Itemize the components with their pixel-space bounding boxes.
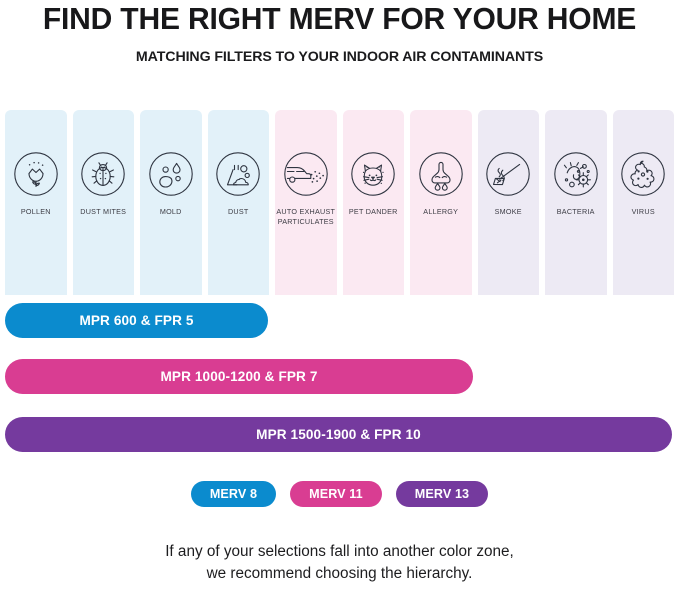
merv-bar-mpr-600[interactable]: MPR 600 & FPR 5 [5, 303, 268, 338]
column-label: POLLEN [5, 207, 67, 217]
page-subtitle: MATCHING FILTERS TO YOUR INDOOR AIR CONT… [0, 49, 679, 65]
merv-bar-mpr-1500-1900[interactable]: MPR 1500-1900 & FPR 10 [5, 417, 672, 452]
contaminant-column-pollen[interactable]: POLLEN [5, 110, 67, 295]
merv-badges: MERV 8 MERV 11 MERV 13 [0, 481, 679, 507]
contaminant-columns: POLLEN [5, 110, 674, 295]
contaminant-column-mold[interactable]: MOLD [140, 110, 202, 295]
contaminant-column-bacteria[interactable]: BACTERIA [545, 110, 607, 295]
dust-cloud-icon [214, 150, 262, 198]
infographic-page: FIND THE RIGHT MERV FOR YOUR HOME MATCHI… [0, 0, 679, 589]
auto-exhaust-car-icon [282, 150, 330, 198]
merv-badge-11[interactable]: MERV 11 [290, 481, 382, 507]
contaminant-column-smoke[interactable]: SMOKE [478, 110, 540, 295]
allergy-nose-icon [417, 150, 465, 198]
column-label: BACTERIA [545, 207, 607, 217]
contaminant-column-dust-mites[interactable]: DUST MITES [73, 110, 135, 295]
contaminant-column-auto-exhaust[interactable]: AUTO EXHAUST PARTICULATES [275, 110, 337, 295]
contaminant-column-pet-dander[interactable]: PET DANDER [343, 110, 405, 295]
column-label: VIRUS [613, 207, 675, 217]
footer-line-1: If any of your selections fall into anot… [0, 541, 679, 563]
column-label: ALLERGY [410, 207, 472, 217]
column-label: DUST MITES [73, 207, 135, 217]
smoke-cigarette-icon [484, 150, 532, 198]
dust-mite-bug-icon [79, 150, 127, 198]
column-label: MOLD [140, 207, 202, 217]
column-label: AUTO EXHAUST PARTICULATES [275, 207, 337, 226]
contaminant-column-virus[interactable]: VIRUS [613, 110, 675, 295]
pet-dander-cat-icon [349, 150, 397, 198]
merv-badge-13[interactable]: MERV 13 [396, 481, 488, 507]
contaminant-column-dust[interactable]: DUST [208, 110, 270, 295]
bacteria-icon [552, 150, 600, 198]
virus-icon [619, 150, 667, 198]
merv-badge-8[interactable]: MERV 8 [191, 481, 276, 507]
pollen-flower-icon [12, 150, 60, 198]
mold-spores-icon [147, 150, 195, 198]
column-label: SMOKE [478, 207, 540, 217]
page-title: FIND THE RIGHT MERV FOR YOUR HOME [5, 2, 674, 37]
column-label: PET DANDER [343, 207, 405, 217]
footer-note: If any of your selections fall into anot… [0, 541, 679, 585]
footer-line-2: we recommend choosing the hierarchy. [0, 563, 679, 585]
contaminant-column-allergy[interactable]: ALLERGY [410, 110, 472, 295]
merv-bar-mpr-1000-1200[interactable]: MPR 1000-1200 & FPR 7 [5, 359, 473, 394]
column-label: DUST [208, 207, 270, 217]
